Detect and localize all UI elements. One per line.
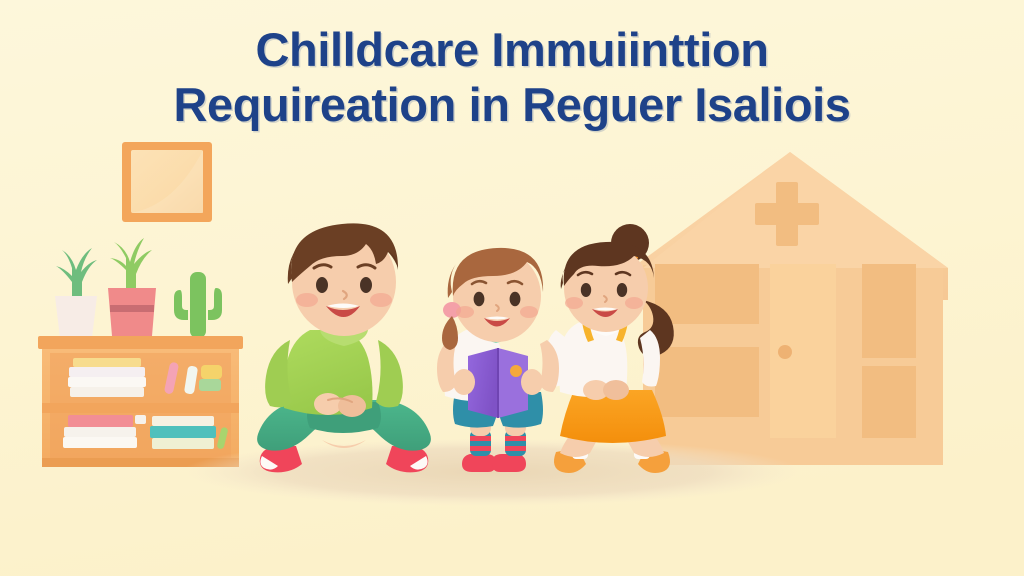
book-sticker [510, 365, 522, 377]
eye-right [510, 292, 521, 306]
wall-picture-frame [122, 142, 212, 222]
eye-right [617, 283, 627, 297]
illustration-canvas: Chilldcare Immuiinttion Requireation in … [0, 0, 1024, 576]
book-stack-upper [68, 358, 146, 397]
door-knob [778, 345, 792, 359]
building-window-left [655, 264, 759, 324]
eye-left [581, 283, 591, 297]
shelf-middle-board [42, 403, 239, 413]
book-stack-lower-right [150, 416, 216, 449]
open-book [468, 348, 528, 418]
hand-left [453, 369, 475, 395]
hand-left [314, 393, 342, 415]
eye-left [316, 277, 328, 293]
hand-right [521, 369, 543, 395]
green-block [199, 379, 221, 391]
shelf-top-board [38, 336, 243, 349]
eye-right [360, 277, 372, 293]
building-window-right [862, 264, 916, 358]
eye-left [474, 292, 485, 306]
childcare-illustration [0, 0, 1024, 576]
yellow-block [201, 365, 222, 379]
